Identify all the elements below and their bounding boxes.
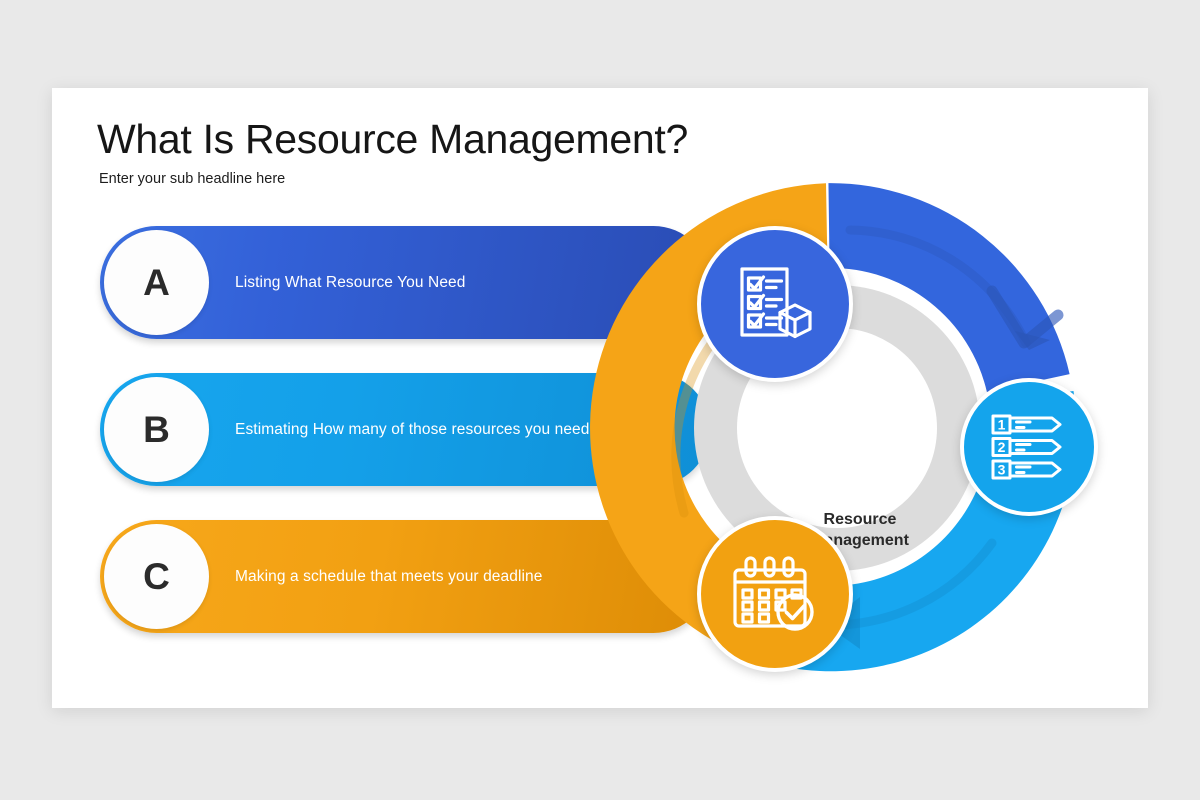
step-label-a: Listing What Resource You Need <box>235 226 465 339</box>
step-label-b: Estimating How many of those resources y… <box>235 373 590 486</box>
page-subtitle: Enter your sub headline here <box>99 171 285 187</box>
icon-bubble-checklist[interactable] <box>697 226 853 382</box>
numbered-list-icon: 1 2 3 <box>990 412 1068 482</box>
step-letter-b: B <box>104 377 209 482</box>
checklist-box-icon <box>733 262 817 346</box>
page-title: What Is Resource Management? <box>97 116 688 163</box>
slide-card: What Is Resource Management? Enter your … <box>52 88 1148 708</box>
step-letter-c: C <box>104 524 209 629</box>
numbered-item-2: 2 <box>998 439 1006 455</box>
step-letter-a: A <box>104 230 209 335</box>
calendar-check-icon <box>733 554 817 634</box>
icon-bubble-numbered-list[interactable]: 1 2 3 <box>960 378 1098 516</box>
icon-bubble-calendar[interactable] <box>697 516 853 672</box>
step-label-c: Making a schedule that meets your deadli… <box>235 520 543 633</box>
numbered-item-3: 3 <box>998 462 1006 478</box>
numbered-item-1: 1 <box>998 417 1006 433</box>
